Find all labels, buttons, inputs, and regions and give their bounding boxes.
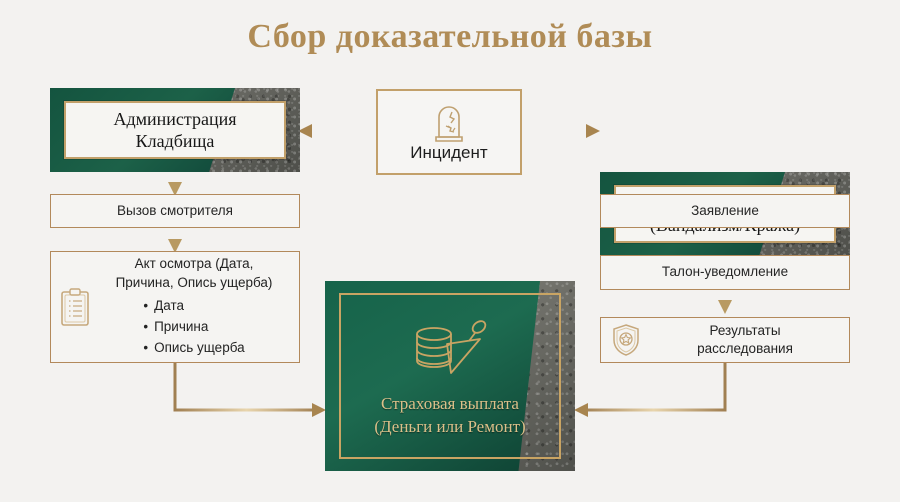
- incident-label: Инцидент: [410, 143, 487, 163]
- node-investigation-results[interactable]: Результаты расследования: [600, 317, 850, 363]
- node-cemetery-admin[interactable]: Администрация Кладбища: [50, 88, 300, 172]
- statement-label: Заявление: [691, 202, 759, 220]
- investigation-results-label: Результаты расследования: [651, 322, 839, 358]
- list-item: Дата: [143, 296, 244, 317]
- edge-admin-to-caretaker: [168, 172, 182, 196]
- inspection-act-body: Акт осмотра (Дата, Причина, Опись ущерба…: [99, 255, 289, 358]
- node-notification-coupon[interactable]: Талон-уведомление: [600, 255, 850, 290]
- node-caretaker-call[interactable]: Вызов смотрителя: [50, 194, 300, 228]
- tombstone-icon: [431, 101, 467, 141]
- list-item: Опись ущерба: [143, 338, 244, 359]
- node-incident[interactable]: Инцидент: [376, 89, 522, 175]
- police-badge-icon: [611, 323, 641, 357]
- cemetery-admin-line1: Администрация: [113, 109, 236, 129]
- edge-investigation-to-payout: [574, 363, 725, 417]
- insurance-payout-label: Страховая выплата (Деньги или Ремонт): [374, 393, 525, 439]
- notification-coupon-label: Талон-уведомление: [662, 263, 788, 281]
- node-inspection-act[interactable]: Акт осмотра (Дата, Причина, Опись ущерба…: [50, 251, 300, 363]
- edge-caretaker-to-act: [168, 228, 182, 253]
- edge-incident-to-police: [522, 124, 600, 138]
- list-item: Причина: [143, 317, 244, 338]
- inspection-act-heading-line2: Причина, Опись ущерба): [116, 275, 273, 290]
- investigation-results-line2: расследования: [697, 341, 793, 356]
- insurance-payout-line1: Страховая выплата: [381, 394, 519, 413]
- inspection-act-heading: Акт осмотра (Дата, Причина, Опись ущерба…: [116, 255, 273, 291]
- node-insurance-payout[interactable]: Страховая выплата (Деньги или Ремонт): [325, 281, 575, 471]
- node-statement[interactable]: Заявление: [600, 194, 850, 228]
- edge-incident-to-admin: [298, 124, 374, 138]
- insurance-payout-content: Страховая выплата (Деньги или Ремонт): [325, 281, 575, 471]
- cemetery-admin-label: Администрация Кладбища: [64, 101, 286, 159]
- coins-trowel-icon: [407, 313, 493, 387]
- inspection-act-bullets: Дата Причина Опись ущерба: [143, 296, 244, 359]
- investigation-results-line1: Результаты: [709, 323, 780, 338]
- cemetery-admin-line2: Кладбища: [136, 131, 215, 151]
- insurance-payout-line2: (Деньги или Ремонт): [374, 417, 525, 436]
- clipboard-icon: [59, 287, 91, 327]
- edge-coupon-to-investigation: [718, 290, 732, 314]
- edge-act-to-payout: [175, 363, 326, 417]
- inspection-act-heading-line1: Акт осмотра (Дата,: [135, 256, 254, 271]
- caretaker-call-label: Вызов смотрителя: [117, 202, 233, 220]
